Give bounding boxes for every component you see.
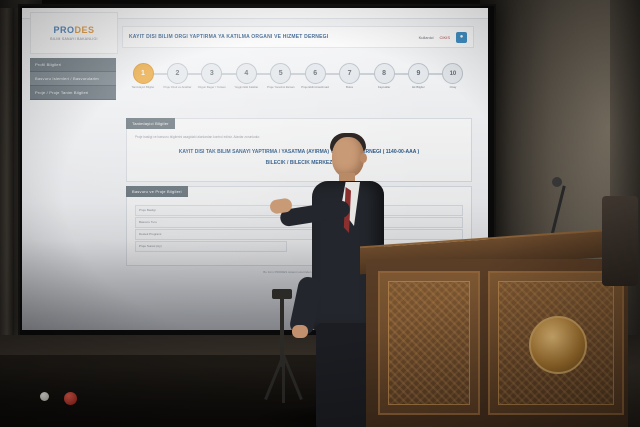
- step-3[interactable]: 3 Ozgun Deger / Yontem: [197, 63, 227, 89]
- sidebar-item-profile[interactable]: Profil Bilgileri: [30, 58, 116, 72]
- sidebar-item-label: Basvuru Islemleri / Basvurularim: [35, 76, 99, 81]
- logo-text-primary: PRO: [53, 25, 74, 35]
- sidebar-item-label: Profil Bilgileri: [35, 62, 61, 67]
- step-number: 5: [270, 63, 291, 84]
- presenter-ear: [360, 153, 367, 163]
- step-number: 8: [374, 63, 395, 84]
- step-10[interactable]: 10 Onay: [438, 63, 468, 89]
- step-label: Butce: [334, 86, 366, 89]
- step-7[interactable]: 7 Butce: [335, 63, 365, 89]
- step-number: 6: [305, 63, 326, 84]
- step-6[interactable]: 6 Proje Ekibi Arastirmaci: [300, 63, 330, 89]
- step-number: 3: [201, 63, 222, 84]
- step-9[interactable]: 9 Ek Bilgiler: [404, 63, 434, 89]
- step-label: Yaygin Etki Katkilar: [230, 86, 262, 89]
- lectern-body: [366, 259, 628, 427]
- chair: [602, 196, 638, 286]
- stepper-steps: 1 Tanimlayici Bilgiler 2 Proje Ozeti ve …: [126, 63, 470, 89]
- step-label: Onay: [437, 86, 469, 89]
- step-label: Proje Ozeti ve Anahtar: [161, 86, 193, 89]
- white-ball-decor: [40, 392, 49, 401]
- step-8[interactable]: 8 Kaynaklar: [369, 63, 399, 89]
- step-number: 7: [339, 63, 360, 84]
- page-title: KAYIT DISI BILIM ORGI YAPTIRMA YA KATILM…: [129, 34, 413, 40]
- user-icon[interactable]: ●: [456, 32, 467, 43]
- wizard-stepper: 1 Tanimlayici Bilgiler 2 Proje Ozeti ve …: [126, 63, 470, 109]
- step-number: 2: [167, 63, 188, 84]
- lectern-panel-right: [488, 271, 624, 415]
- logo-subtitle: BILIM SANAYI BAKANLIGI: [50, 37, 97, 41]
- form-field-label: Proje Basligi: [139, 208, 156, 212]
- sidebar-item-applications[interactable]: Basvuru Islemleri / Basvurularim: [30, 72, 116, 86]
- logo-text-secondary: DES: [75, 25, 95, 35]
- step-4[interactable]: 4 Yaygin Etki Katkilar: [231, 63, 261, 89]
- form-field-label: Basvuru Turu: [139, 220, 157, 224]
- step-number: 4: [236, 63, 257, 84]
- sidebar-item-label: Proje / Proje Tanim Bilgileri: [35, 90, 89, 95]
- step-label: Ozgun Deger / Yontem: [196, 86, 228, 89]
- step-label: Tanimlayici Bilgiler: [127, 86, 159, 89]
- step-label: Proje Yonetimi Zaman: [265, 86, 297, 89]
- app-logo: PRODES BILIM SANAYI BAKANLIGI: [30, 12, 118, 54]
- slide-header: KAYIT DISI BILIM ORGI YAPTIRMA YA KATILM…: [122, 26, 474, 48]
- step-label: Proje Ekibi Arastirmaci: [299, 86, 331, 89]
- step-number: 10: [442, 63, 463, 84]
- step-label: Kaynaklar: [368, 86, 400, 89]
- photo-scene: PRODES BILIM SANAYI BAKANLIGI KAYIT DISI…: [0, 0, 640, 427]
- sidebar-menu: Profil Bilgileri Basvuru Islemleri / Bas…: [30, 58, 116, 100]
- step-5[interactable]: 5 Proje Yonetimi Zaman: [266, 63, 296, 89]
- step-number: 1: [133, 63, 154, 84]
- form-field-label: Destek Programi: [139, 232, 161, 236]
- lectern-panel-left: [378, 271, 480, 415]
- info-panel-title: Tanimlayici Bilgiler: [126, 118, 175, 129]
- lectern-carving-left: [388, 281, 470, 405]
- wooden-lectern: [360, 237, 628, 427]
- microphone-icon: [552, 177, 562, 187]
- sidebar-item-project[interactable]: Proje / Proje Tanim Bilgileri: [30, 86, 116, 100]
- step-2[interactable]: 2 Proje Ozeti ve Anahtar: [162, 63, 192, 89]
- form-field-duration[interactable]: Proje Suresi (Ay): [135, 241, 287, 252]
- step-number: 9: [408, 63, 429, 84]
- form-field-label: Proje Suresi (Ay): [139, 244, 162, 248]
- red-ball-decor: [64, 392, 77, 405]
- logo-text: PRODES: [53, 25, 94, 35]
- logout-button[interactable]: CIKIS: [440, 35, 450, 40]
- step-label: Ek Bilgiler: [403, 86, 435, 89]
- step-1[interactable]: 1 Tanimlayici Bilgiler: [128, 63, 158, 89]
- user-label[interactable]: Kullanici: [419, 35, 434, 40]
- form-panel-title: Basvuru ve Proje Bilgileri: [126, 186, 188, 197]
- lectern-emblem: [529, 316, 587, 374]
- presenter-lower-hand: [292, 325, 308, 338]
